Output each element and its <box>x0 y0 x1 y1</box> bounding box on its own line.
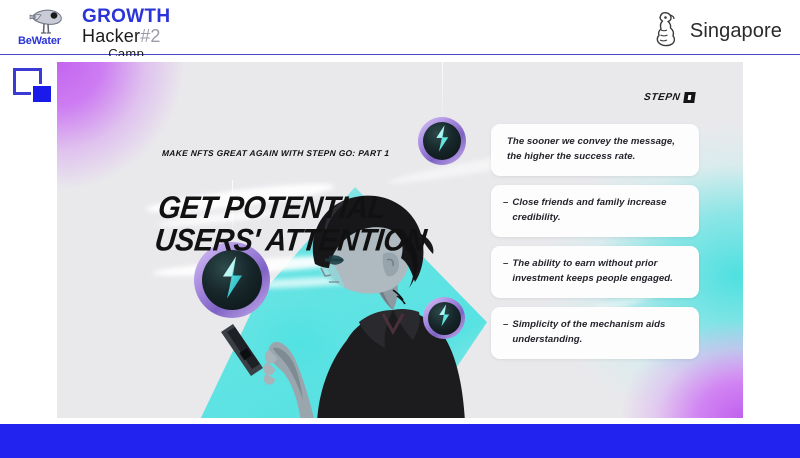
stepn-square-mark-icon <box>683 92 696 103</box>
slide-kicker: MAKE NFTS GREAT AGAIN WITH STEPN GO: PAR… <box>162 148 493 159</box>
card-dash: – <box>503 196 508 225</box>
square-filled-shape <box>31 84 53 104</box>
bewater-growth-hacker-logo: BeWater GROWTH Hacker#2 Camp <box>18 4 170 61</box>
hacker-edition-number: #2 <box>140 26 160 46</box>
card-text: Close friends and family increase credib… <box>512 196 686 225</box>
coin-hanging-string <box>442 62 443 117</box>
growth-hacker-camp-wordmark: GROWTH Hacker#2 Camp <box>82 4 170 61</box>
card-dash: – <box>503 257 508 286</box>
singapore-brand: Singapore <box>651 10 782 53</box>
bewater-logo: BeWater <box>18 4 80 52</box>
card-text: The sooner we convey the message, the hi… <box>507 135 686 164</box>
slide-area: MAKE NFTS GREAT AGAIN WITH STEPN GO: PAR… <box>0 56 800 424</box>
hacker-label: Hacker <box>82 26 140 46</box>
bottom-blue-bar <box>0 424 800 458</box>
stepn-logo-badge: STEPN <box>643 92 696 103</box>
bewater-wordmark: BeWater <box>18 35 61 47</box>
singapore-label: Singapore <box>690 20 782 43</box>
lightning-bolt-glyph <box>212 255 252 306</box>
hacker-label-row: Hacker#2 <box>82 27 170 46</box>
page-header: BeWater GROWTH Hacker#2 Camp Singapore <box>0 0 800 55</box>
growth-label: GROWTH <box>82 7 170 27</box>
insight-card-list: The sooner we convey the message, the hi… <box>491 124 699 359</box>
stepn-wordmark: STEPN <box>643 92 681 103</box>
insight-card: – The ability to earn without prior inve… <box>491 246 699 298</box>
merlion-icon <box>651 10 681 53</box>
stepn-token-coin-small-bottom <box>423 297 465 339</box>
card-dash: – <box>503 318 508 347</box>
presentation-slide: MAKE NFTS GREAT AGAIN WITH STEPN GO: PAR… <box>57 62 743 418</box>
card-text: The ability to earn without prior invest… <box>512 257 686 286</box>
card-text: Simplicity of the mechanism aids underst… <box>512 318 686 347</box>
insight-card: – Close friends and family increase cred… <box>491 185 699 237</box>
insight-card: The sooner we convey the message, the hi… <box>491 124 699 176</box>
lightning-bolt-glyph <box>434 303 455 333</box>
insight-card: – Simplicity of the mechanism aids under… <box>491 307 699 359</box>
overlapping-squares-icon <box>13 68 55 104</box>
